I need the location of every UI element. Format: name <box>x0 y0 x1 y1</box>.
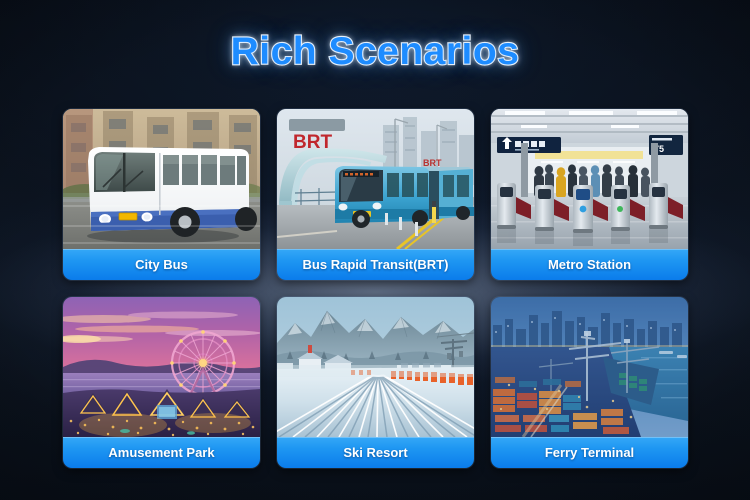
metro-station-image: 75 <box>491 109 688 249</box>
card-label-metro-station: Metro Station <box>491 249 688 280</box>
scenario-card-amusement-park[interactable]: Amusement Park <box>63 297 260 468</box>
page-title: Rich Scenarios <box>231 30 520 74</box>
scenario-card-city-bus[interactable]: City Bus <box>63 109 260 280</box>
card-label-bus-rapid-transit: Bus Rapid Transit(BRT) <box>277 249 474 280</box>
amusement-park-image <box>63 297 260 437</box>
scenario-card-grid: City Bus <box>63 109 688 468</box>
scenarios-panel: Rich Scenarios <box>0 0 750 500</box>
scenario-card-bus-rapid-transit[interactable]: BRT BRT <box>277 109 474 280</box>
card-label-amusement-park: Amusement Park <box>63 437 260 468</box>
scenario-card-ski-resort[interactable]: Ski Resort <box>277 297 474 468</box>
scenario-card-metro-station[interactable]: 75 <box>491 109 688 280</box>
card-label-city-bus: City Bus <box>63 249 260 280</box>
bus-rapid-transit-image: BRT BRT <box>277 109 474 249</box>
svg-text:BRT: BRT <box>423 158 442 168</box>
ski-resort-image <box>277 297 474 437</box>
scenario-card-ferry-terminal[interactable]: Ferry Terminal <box>491 297 688 468</box>
card-label-ski-resort: Ski Resort <box>277 437 474 468</box>
city-bus-image <box>63 109 260 249</box>
card-label-ferry-terminal: Ferry Terminal <box>491 437 688 468</box>
page-title-container: Rich Scenarios <box>0 30 750 74</box>
ferry-terminal-image <box>491 297 688 437</box>
